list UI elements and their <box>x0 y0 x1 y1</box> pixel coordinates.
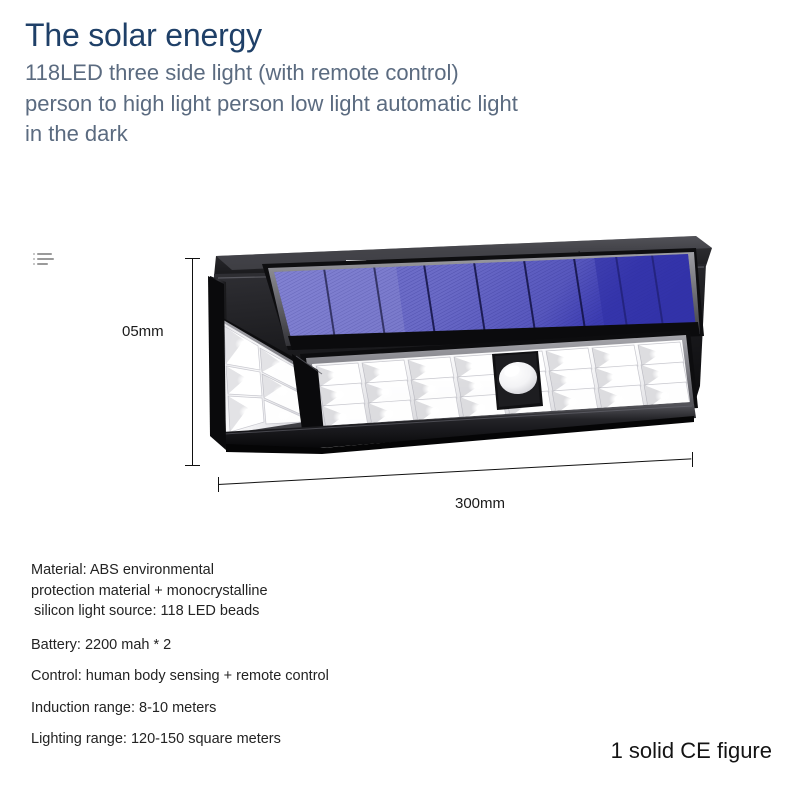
list-icon-bar <box>37 253 52 255</box>
spec-line: silicon light source: 118 LED beads <box>31 601 451 622</box>
dimension-tick-right <box>692 452 693 467</box>
spec-item-lighting: Lighting range: 120-150 square meters <box>31 729 451 750</box>
header-block: The solar energy 118LED three side light… <box>25 18 545 150</box>
list-icon-dot <box>33 263 35 265</box>
spec-item-battery: Battery: 2200 mah * 2 <box>31 635 451 656</box>
spec-line: protection material + monocrystalline <box>31 581 451 602</box>
list-icon-bar <box>37 258 54 260</box>
list-icon-bar <box>37 263 48 265</box>
height-dimension-label: 05mm <box>122 323 164 340</box>
list-icon-dot <box>33 258 35 260</box>
spec-line: Battery: 2200 mah * 2 <box>31 635 451 656</box>
width-dimension-label: 300mm <box>455 495 505 512</box>
list-icon-dot <box>33 253 35 255</box>
ce-figure-caption: 1 solid CE figure <box>611 738 772 764</box>
specification-list: Material: ABS environmental protection m… <box>31 560 451 761</box>
left-edge-shadow <box>208 276 226 450</box>
spec-item-material: Material: ABS environmental protection m… <box>31 560 451 622</box>
spec-line: Control: human body sensing + remote con… <box>31 666 451 687</box>
spec-line: Material: ABS environmental <box>31 560 451 581</box>
list-icon <box>33 250 57 270</box>
dimension-rule <box>218 458 691 485</box>
width-dimension-line <box>210 440 700 500</box>
page-title: The solar energy <box>25 18 545 54</box>
dimension-rule <box>192 258 193 466</box>
product-subtitle: 118LED three side light (with remote con… <box>25 58 525 150</box>
spec-line: Induction range: 8-10 meters <box>31 698 451 719</box>
spec-line: Lighting range: 120-150 square meters <box>31 729 451 750</box>
spec-item-control: Control: human body sensing + remote con… <box>31 666 451 687</box>
spec-item-induction: Induction range: 8-10 meters <box>31 698 451 719</box>
